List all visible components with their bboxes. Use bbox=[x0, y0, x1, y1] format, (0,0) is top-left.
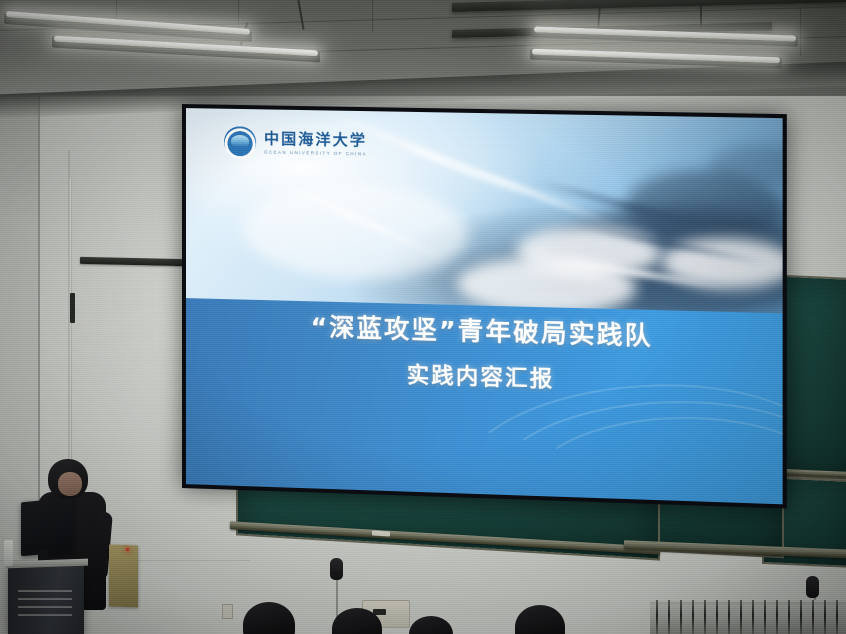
gooseneck-microphone[interactable] bbox=[330, 558, 343, 580]
status-led bbox=[126, 548, 129, 551]
radiator-fin bbox=[812, 600, 814, 634]
radiator-fin bbox=[776, 600, 778, 634]
presenter-face bbox=[58, 472, 82, 496]
chalk-piece[interactable] bbox=[372, 530, 390, 536]
gooseneck-microphone[interactable] bbox=[806, 576, 819, 598]
podium-vent bbox=[18, 590, 72, 592]
wall-radiator bbox=[650, 600, 846, 634]
university-name-cn: 中国海洋大学 bbox=[264, 131, 367, 148]
projection-screen[interactable]: 中国海洋大学 OCEAN UNIVERSITY OF CHINA “深蓝攻坚”青… bbox=[182, 104, 787, 509]
radiator-fin bbox=[764, 600, 766, 634]
radiator-fin bbox=[836, 600, 838, 634]
podium-vent bbox=[18, 598, 72, 600]
radiator-fin bbox=[716, 600, 718, 634]
wall-outlet[interactable] bbox=[222, 604, 233, 619]
podium-monitor[interactable] bbox=[21, 498, 73, 557]
ouc-seal-icon bbox=[224, 126, 256, 159]
ceiling-hanger-wire bbox=[700, 4, 702, 30]
university-name-en: OCEAN UNIVERSITY OF CHINA bbox=[264, 149, 367, 156]
water-bottle[interactable] bbox=[4, 540, 13, 566]
radiator-fin bbox=[824, 600, 826, 634]
ceiling-tile-seam bbox=[372, 0, 373, 32]
radiator-fin bbox=[752, 600, 754, 634]
equipment-box bbox=[109, 544, 138, 607]
radiator-fin bbox=[692, 600, 694, 634]
slide-hero-photo: 中国海洋大学 OCEAN UNIVERSITY OF CHINA bbox=[186, 108, 783, 313]
slide-title-banner: “深蓝攻坚”青年破局实践队 实践内容汇报 bbox=[186, 298, 783, 504]
projection-screen-surface: 中国海洋大学 OCEAN UNIVERSITY OF CHINA “深蓝攻坚”青… bbox=[186, 108, 783, 504]
conduit-junction-box bbox=[70, 293, 75, 323]
university-logo: 中国海洋大学 OCEAN UNIVERSITY OF CHINA bbox=[224, 126, 367, 161]
radiator-fin bbox=[680, 600, 682, 634]
radiator-fin bbox=[788, 600, 790, 634]
podium-vent bbox=[18, 614, 72, 616]
radiator-fin bbox=[704, 600, 706, 634]
radiator-fin bbox=[656, 600, 658, 634]
slide-text-block: “深蓝攻坚”青年破局实践队 实践内容汇报 bbox=[186, 311, 783, 401]
radiator-fin bbox=[800, 600, 802, 634]
slide-title: “深蓝攻坚”青年破局实践队 bbox=[186, 311, 783, 353]
radiator-fin bbox=[740, 600, 742, 634]
radiator-fin bbox=[728, 600, 730, 634]
slide-subtitle: 实践内容汇报 bbox=[186, 351, 783, 400]
podium-vent bbox=[18, 606, 72, 608]
radiator-fin bbox=[668, 600, 670, 634]
ceiling-tile-seam bbox=[800, 8, 801, 56]
lecture-hall-scene: 中国海洋大学 OCEAN UNIVERSITY OF CHINA “深蓝攻坚”青… bbox=[0, 0, 846, 634]
